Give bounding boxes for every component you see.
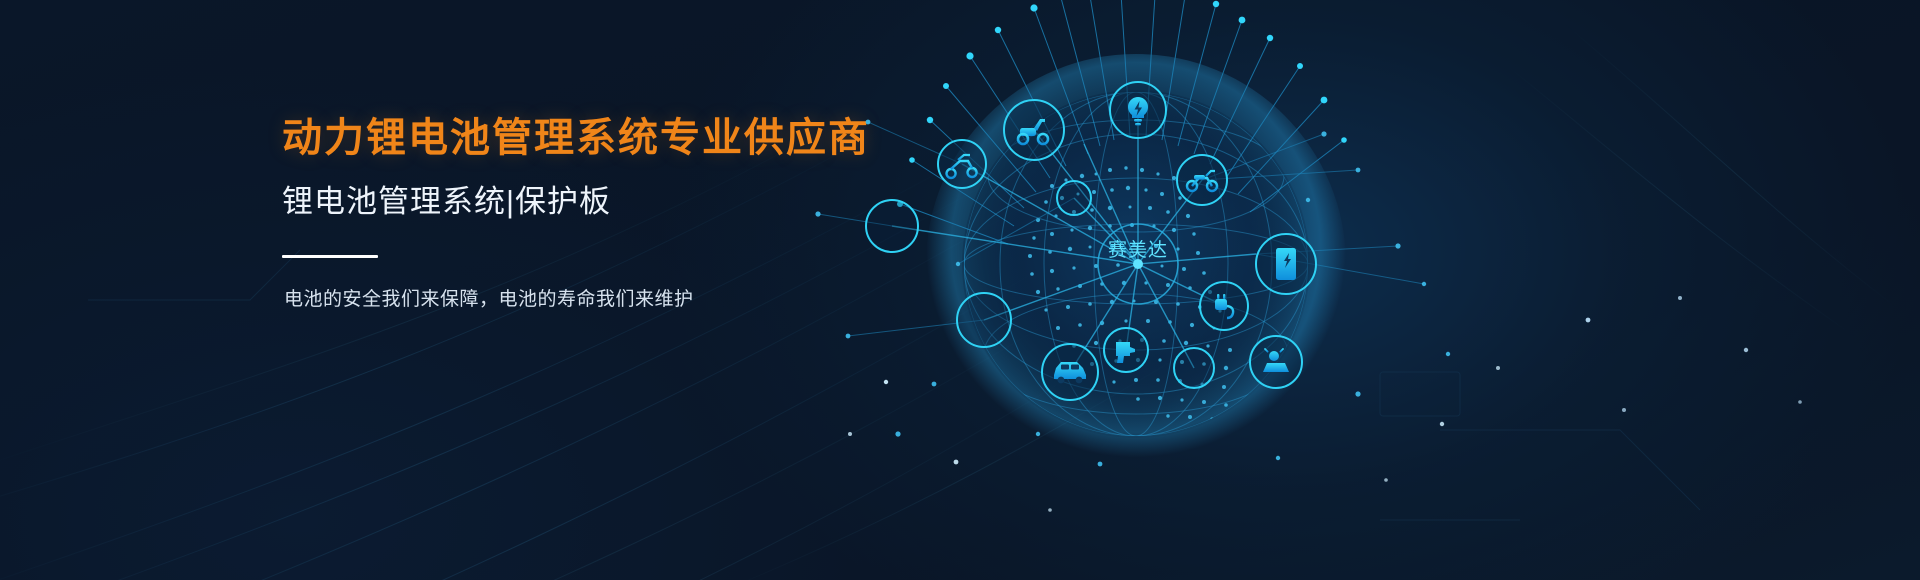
node-power-plug [1200, 282, 1248, 330]
hero-copy-block: 动力锂电池管理系统专业供应商 锂电池管理系统|保护板 电池的安全我们来保障，电池… [282, 118, 922, 309]
node-electric-bike [938, 140, 986, 188]
hero-banner: 动力锂电池管理系统专业供应商 锂电池管理系统|保护板 电池的安全我们来保障，电池… [0, 0, 1920, 580]
node-car [1042, 344, 1098, 400]
node-blank-lower [1174, 348, 1214, 388]
globe-brand-label: 赛美达 [1108, 239, 1168, 261]
globe-center-node: 赛美达 [1098, 224, 1178, 304]
hero-tagline: 电池的安全我们来保障，电池的寿命我们来维护 [284, 290, 922, 309]
globe-dot-surface [1028, 166, 1232, 420]
node-scooter [1004, 100, 1064, 160]
background-stars [848, 366, 1500, 512]
network-globe-illustration: 赛美达 [838, 0, 1538, 580]
title-divider [282, 255, 378, 258]
node-lightbulb [1110, 82, 1166, 138]
node-power-bank [1256, 234, 1316, 294]
node-solar-panel [1250, 336, 1302, 388]
node-moped [1177, 155, 1227, 205]
node-blank-upper [1057, 181, 1091, 215]
node-power-drill [1104, 328, 1148, 372]
hero-subtitle: 锂电池管理系统|保护板 [282, 186, 922, 217]
page-title: 动力锂电池管理系统专业供应商 [282, 118, 922, 158]
node-link-lines [892, 110, 1256, 372]
antenna-array [900, 0, 1344, 244]
antenna-tips [897, 0, 1347, 207]
right-field-stars [1560, 280, 1880, 480]
node-blank-mid [957, 293, 1011, 347]
